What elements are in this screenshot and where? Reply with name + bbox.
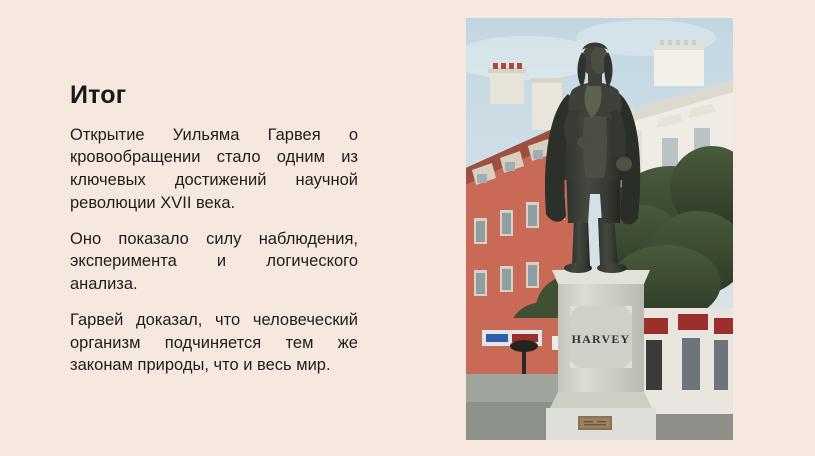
paragraph-2: Оно показало силу наблюдения, эксперимен… <box>70 228 358 296</box>
paragraph-3: Гарвей доказал, что человеческий организ… <box>70 309 358 377</box>
page-title: Итог <box>70 82 358 110</box>
paragraph-1: Открытие Уильяма Гарвея о кровообращении… <box>70 124 358 215</box>
text-column: Итог Открытие Уильяма Гарвея о кровообра… <box>70 82 358 377</box>
pedestal-inscription-text: HARVEY <box>572 332 631 346</box>
statue-illustration: HARVEY <box>466 18 733 440</box>
statue-pedestal: HARVEY <box>546 270 656 440</box>
harvey-statue-photograph: HARVEY <box>466 18 733 440</box>
presentation-slide: Итог Открытие Уильяма Гарвея о кровообра… <box>0 0 815 456</box>
